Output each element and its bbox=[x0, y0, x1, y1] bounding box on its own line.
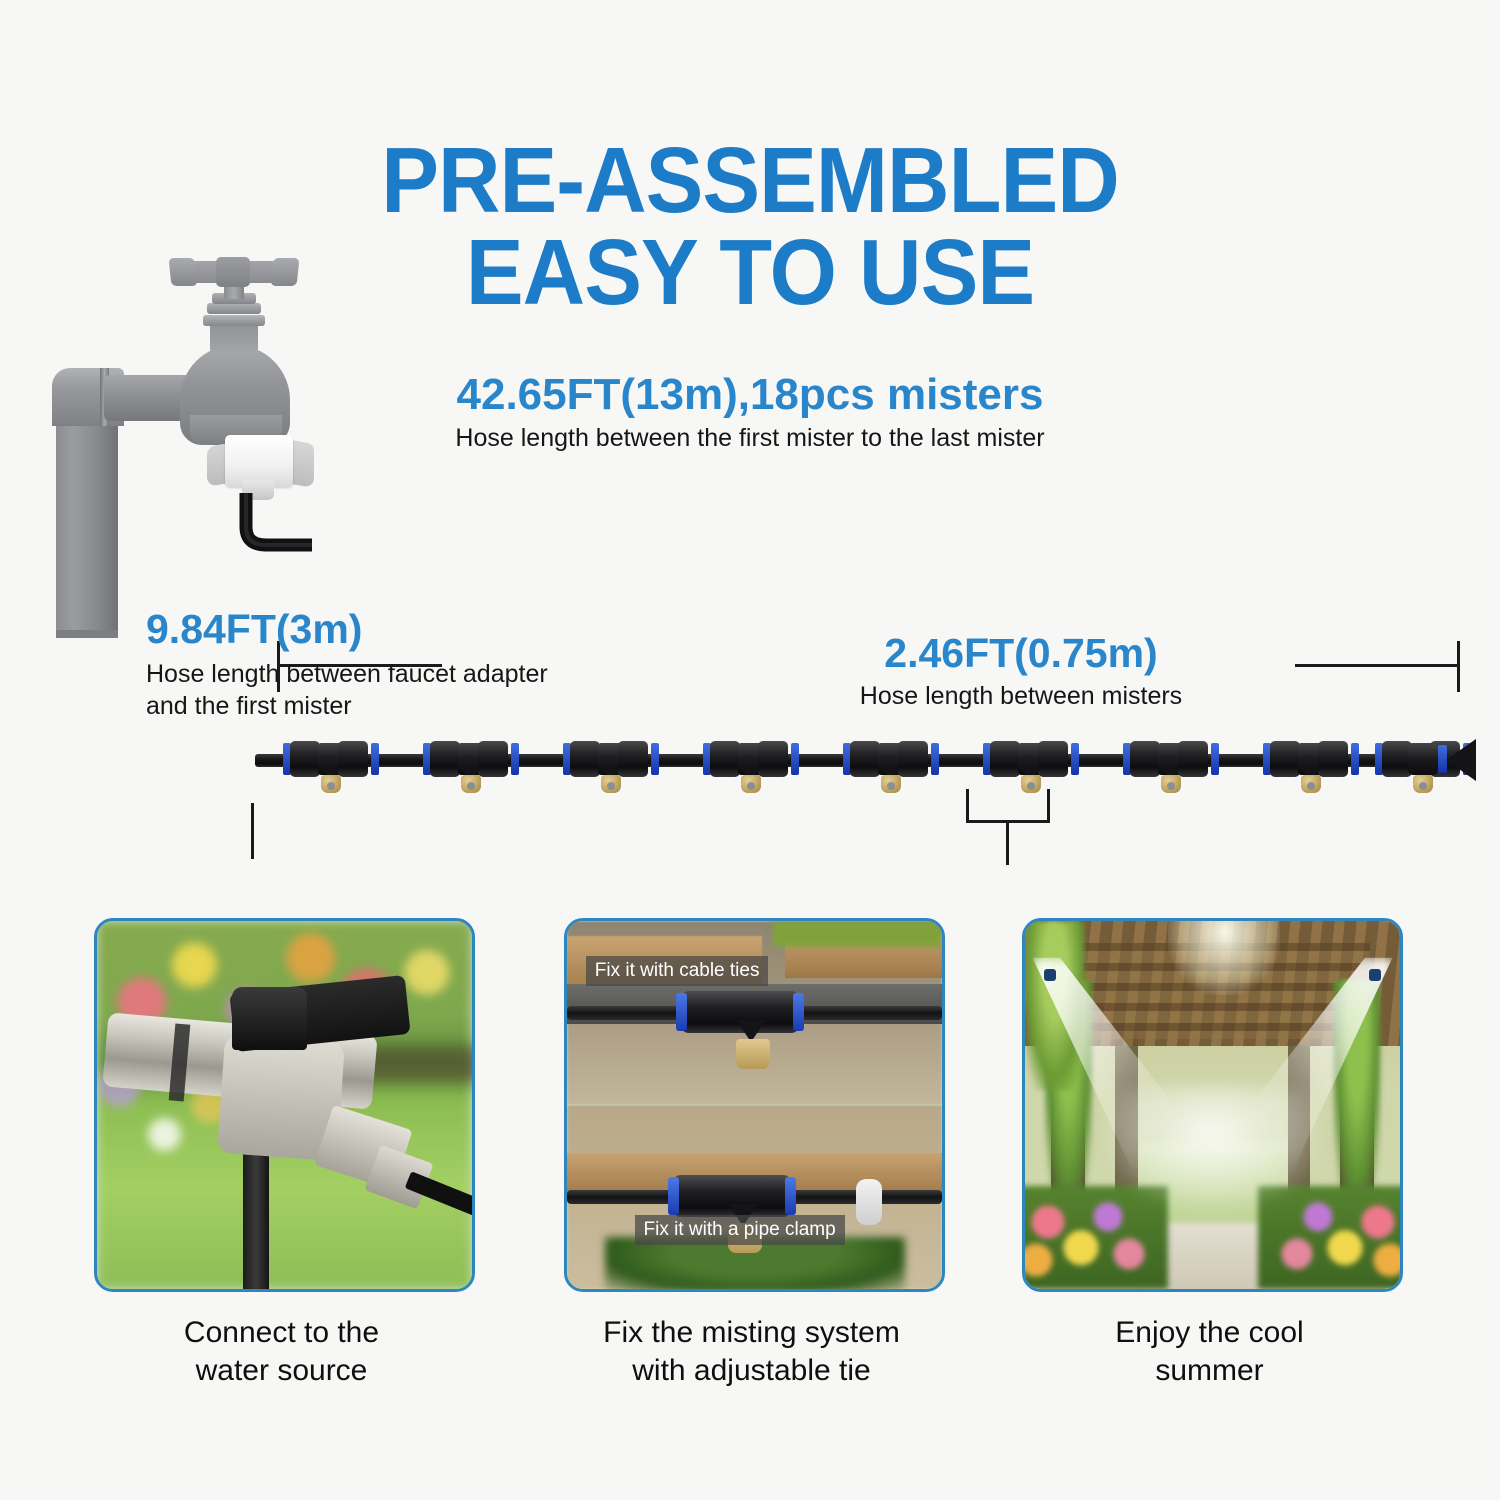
mister-nozzle-assembly bbox=[842, 731, 938, 793]
usage-step-3-caption: Enjoy the cool summer bbox=[1022, 1314, 1397, 1389]
brass-nozzle bbox=[1161, 775, 1181, 793]
lead-in-description-1: Hose length between faucet adapter bbox=[146, 658, 548, 690]
faucet-handle-hub bbox=[216, 257, 250, 287]
dimension-line-right bbox=[1295, 664, 1460, 667]
brass-nozzle bbox=[741, 775, 761, 793]
pergola-misting-photo bbox=[1022, 918, 1403, 1292]
faucet-nut-lower bbox=[203, 315, 265, 326]
faucet-connection-photo bbox=[94, 918, 475, 1292]
infographic-root: PRE-ASSEMBLED EASY TO USE bbox=[0, 0, 1500, 1500]
spacing-bracket-left bbox=[966, 789, 969, 823]
usage-step-2-caption: Fix the misting system with adjustable t… bbox=[564, 1314, 939, 1389]
brass-nozzle bbox=[601, 775, 621, 793]
spacing-bracket-right bbox=[1047, 789, 1050, 823]
usage-step-2: Fix it with cable ties Fix it with a pip… bbox=[564, 918, 939, 1389]
overlay-label-pipe-clamp: Fix it with a pipe clamp bbox=[635, 1215, 845, 1245]
mounting-methods-photo: Fix it with cable ties Fix it with a pip… bbox=[564, 918, 945, 1292]
spacing-label: 2.46FT(0.75m) Hose length between mister… bbox=[846, 632, 1196, 711]
photo3-nozzle-left bbox=[1044, 969, 1056, 981]
brass-nozzle bbox=[1301, 775, 1321, 793]
photo2-pipe-clamp bbox=[856, 1179, 882, 1225]
brass-nozzle bbox=[1021, 775, 1041, 793]
photo2-top-half: Fix it with cable ties bbox=[567, 921, 942, 1105]
brass-nozzle bbox=[881, 775, 901, 793]
usage-step-1-caption: Connect to the water source bbox=[94, 1314, 469, 1389]
total-span-label: 42.65FT(13m),18pcs misters Hose length b… bbox=[0, 372, 1500, 453]
mister-nozzle-assembly bbox=[1122, 731, 1218, 793]
lead-in-label: 9.84FT(3m) Hose length between faucet ad… bbox=[146, 608, 548, 722]
faucet-nut-middle bbox=[207, 303, 261, 314]
mister-nozzle-assembly bbox=[422, 731, 518, 793]
spacing-value: 2.46FT(0.75m) bbox=[846, 632, 1196, 675]
photo2-brass-nozzle-top bbox=[736, 1039, 770, 1069]
faucet-illustration bbox=[40, 275, 300, 645]
total-span-value: 42.65FT(13m),18pcs misters bbox=[0, 372, 1500, 418]
overlay-label-cable-ties: Fix it with cable ties bbox=[586, 956, 769, 986]
lead-in-value: 9.84FT(3m) bbox=[146, 608, 548, 651]
mister-nozzle-assembly bbox=[1262, 731, 1358, 793]
usage-steps: Connect to the water source bbox=[0, 918, 1500, 1418]
lead-in-description-2: and the first mister bbox=[146, 690, 548, 722]
mister-nozzle-assembly bbox=[562, 731, 658, 793]
hose-end-cap bbox=[1408, 735, 1480, 787]
photo2-bottom-half: Fix it with a pipe clamp bbox=[567, 1105, 942, 1289]
mister-nozzle-assembly bbox=[282, 731, 378, 793]
mister-nozzle-assembly bbox=[702, 731, 798, 793]
brass-nozzle bbox=[461, 775, 481, 793]
usage-step-1: Connect to the water source bbox=[94, 918, 469, 1389]
usage-step-3: Enjoy the cool summer bbox=[1022, 918, 1397, 1389]
total-span-description: Hose length between the first mister to … bbox=[0, 424, 1500, 453]
brass-nozzle bbox=[321, 775, 341, 793]
headline-line-1: PRE-ASSEMBLED bbox=[381, 128, 1119, 232]
hose-curve bbox=[232, 493, 312, 559]
dimension-tick-right bbox=[1457, 641, 1460, 692]
spacing-leader-line bbox=[1006, 820, 1009, 865]
leader-line-lead-in bbox=[251, 803, 254, 859]
photo3-nozzle-right bbox=[1369, 969, 1381, 981]
mister-nozzle-assembly bbox=[982, 731, 1078, 793]
spacing-description: Hose length between misters bbox=[846, 682, 1196, 711]
